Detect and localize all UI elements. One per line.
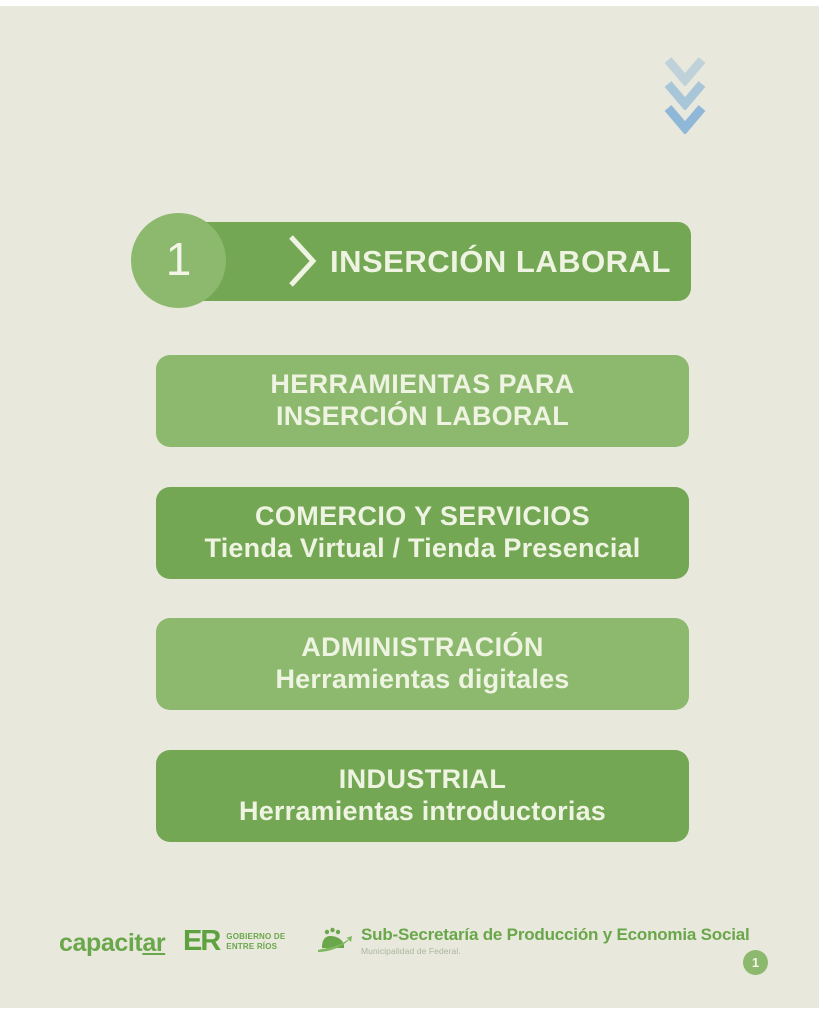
content-box-line2: Herramientas introductorias [239, 796, 606, 828]
logo-er-text: GOBIERNO DE ENTRE RÍOS [226, 932, 285, 952]
content-box-line1: INDUSTRIAL [339, 764, 507, 796]
content-box-line2: Herramientas digitales [275, 664, 569, 696]
logo-capacitar: capacitar [59, 929, 165, 958]
content-box-line2: Tienda Virtual / Tienda Presencial [205, 533, 641, 565]
logo-capacitar-suffix: ar [142, 929, 165, 957]
section-title: INSERCIÓN LABORAL [330, 222, 675, 301]
content-box[interactable]: INDUSTRIAL Herramientas introductorias [156, 750, 689, 842]
content-box[interactable]: ADMINISTRACIÓN Herramientas digitales [156, 618, 689, 710]
slide-canvas: INSERCIÓN LABORAL 1 HERRAMIENTAS PARA IN… [0, 6, 819, 1008]
logo-er-line2: ENTRE RÍOS [226, 942, 285, 952]
page-number: 1 [752, 956, 759, 969]
logo-subsecretaria-subtitle: Municipalidad de Federal. [361, 946, 750, 956]
chevron-down-icon [664, 104, 706, 134]
people-hill-icon [316, 925, 354, 955]
content-box[interactable]: HERRAMIENTAS PARA INSERCIÓN LABORAL [156, 355, 689, 447]
content-box-line1: COMERCIO Y SERVICIOS [255, 501, 590, 533]
content-box[interactable]: COMERCIO Y SERVICIOS Tienda Virtual / Ti… [156, 487, 689, 579]
footer: capacitar ER GOBIERNO DE ENTRE RÍOS Sub- [0, 911, 819, 981]
logo-er-mark: ER [183, 927, 219, 956]
content-box-line2: INSERCIÓN LABORAL [276, 401, 569, 433]
page-number-badge: 1 [743, 950, 768, 975]
logo-capacitar-text: capacitar [59, 929, 165, 958]
section-header: INSERCIÓN LABORAL 1 [131, 213, 691, 309]
logo-subsecretaria: Sub-Secretaría de Producción y Economia … [316, 925, 750, 956]
content-box-line1: ADMINISTRACIÓN [301, 632, 544, 664]
logo-subsecretaria-title: Sub-Secretaría de Producción y Economia … [361, 925, 750, 945]
logo-er-line1: GOBIERNO DE [226, 932, 285, 942]
logo-capacitar-prefix: capacit [59, 929, 142, 957]
logo-entre-rios: ER GOBIERNO DE ENTRE RÍOS [183, 927, 285, 956]
chevron-right-icon [286, 234, 320, 288]
section-header-bar: INSERCIÓN LABORAL [173, 222, 691, 301]
chevron-decoration-group [664, 56, 716, 144]
section-number: 1 [166, 236, 192, 286]
logo-subsecretaria-text: Sub-Secretaría de Producción y Economia … [361, 925, 750, 956]
section-number-badge: 1 [131, 213, 226, 308]
content-box-line1: HERRAMIENTAS PARA [270, 369, 574, 401]
